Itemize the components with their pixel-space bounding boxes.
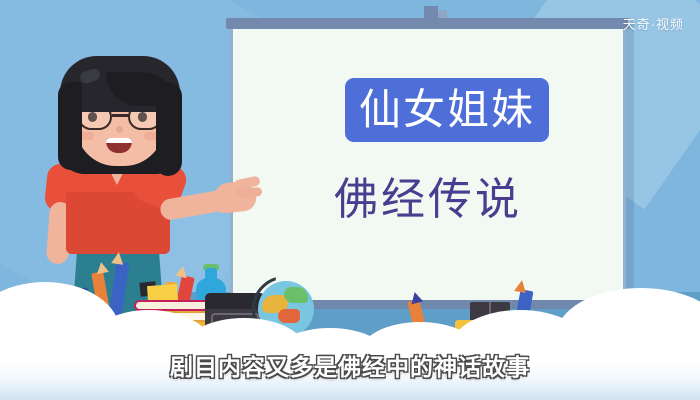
- pencil-orange-tip: [95, 261, 109, 274]
- video-subtitle: 剧目内容又多是佛经中的神话故事: [0, 348, 700, 382]
- video-frame: 仙女姐妹 佛经传说 天奇·视频: [0, 0, 700, 400]
- pencil-blue-tall-tip: [111, 251, 125, 265]
- pencil-red-tip: [175, 265, 189, 278]
